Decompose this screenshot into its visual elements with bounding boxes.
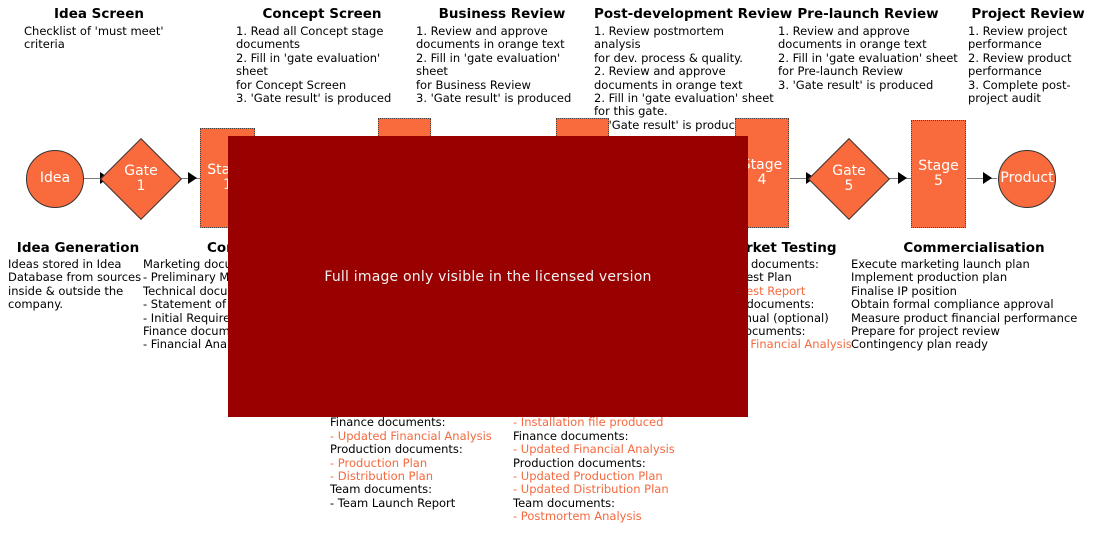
lower-line: Production documents: xyxy=(330,443,530,456)
lower-line: - Production Plan xyxy=(330,457,530,470)
flow-node-stage-5[interactable]: Stage 5 xyxy=(911,120,966,228)
stage-line: Obtain formal compliance approval xyxy=(851,298,1097,311)
gate-column-title: Idea Screen xyxy=(24,6,174,22)
gate-line: documents xyxy=(236,38,408,51)
gate-line: 3. Complete post- xyxy=(968,79,1088,92)
gate-line: for Concept Screen xyxy=(236,79,408,92)
flow-node-gate-5[interactable]: Gate 5 xyxy=(820,150,878,208)
flow-node-label: Product xyxy=(1000,171,1053,187)
flow-node-gate-1[interactable]: Gate 1 xyxy=(112,150,170,208)
gate-line: 2. Fill in 'gate evaluation' sheet xyxy=(416,52,588,79)
gate-line: for this gate. xyxy=(594,105,774,118)
gate-column-post-development-review: Post-development Review 1. Review postmo… xyxy=(594,6,774,132)
gate-line: documents in orange text xyxy=(778,38,958,51)
diagram-canvas: Idea Screen Checklist of 'must meet' cri… xyxy=(0,0,1097,537)
flow-node-idea[interactable]: Idea xyxy=(26,150,84,208)
flow-node-label: Gate 1 xyxy=(112,150,170,208)
licensed-version-overlay: Full image only visible in the licensed … xyxy=(228,136,748,417)
stage-line: Database from sources xyxy=(8,271,148,284)
gate-column-body: 1. Review and approve documents in orang… xyxy=(778,25,958,92)
lower-line: Finance documents: xyxy=(513,430,723,443)
flow-node-label: Stage 5 xyxy=(918,159,958,190)
stage-line: inside & outside the xyxy=(8,285,148,298)
gate-column-idea-screen: Idea Screen Checklist of 'must meet' cri… xyxy=(24,6,174,52)
lower-column-testing: - User Help files - Installation file pr… xyxy=(513,403,723,524)
lower-line: - Updated Financial Analysis xyxy=(513,443,723,456)
gate-line: documents in orange text xyxy=(416,38,588,51)
gate-line: performance xyxy=(968,65,1088,78)
gate-line: for Business Review xyxy=(416,79,588,92)
gate-column-body: 1. Read all Concept stage documents 2. F… xyxy=(236,25,408,105)
gate-line: 3. 'Gate result' is produced xyxy=(778,79,958,92)
lower-line: - Team Launch Report xyxy=(330,497,530,510)
lower-line: - Postmortem Analysis xyxy=(513,510,723,523)
gate-column-title: Business Review xyxy=(416,6,588,22)
stage-line: Ideas stored in Idea xyxy=(8,258,148,271)
flow-node-product[interactable]: Product xyxy=(998,150,1056,208)
gate-column-title: Project Review xyxy=(968,6,1088,22)
gate-column-body: Checklist of 'must meet' criteria xyxy=(24,25,174,52)
lower-line: Production documents: xyxy=(513,457,723,470)
gate-column-title: Pre-launch Review xyxy=(778,6,958,22)
gate-column-project-review: Project Review 1. Review project perform… xyxy=(968,6,1088,105)
lower-line: - Updated Financial Analysis xyxy=(330,430,530,443)
gate-line: 1. Review and approve xyxy=(416,25,588,38)
stage-column-idea-generation: Idea Generation Ideas stored in Idea Dat… xyxy=(8,240,148,312)
gate-line: 1. Review postmortem analysis xyxy=(594,25,774,52)
gate-line: 2. Fill in 'gate evaluation' sheet xyxy=(236,52,408,79)
stage-column-title: Commercialisation xyxy=(851,240,1097,256)
lower-line: Finance documents: xyxy=(330,416,530,429)
stage-column-body: Execute marketing launch plan Implement … xyxy=(851,258,1097,352)
lower-line: - Updated Distribution Plan xyxy=(513,483,723,496)
gate-line: 1. Review project xyxy=(968,25,1088,38)
gate-line: criteria xyxy=(24,38,174,51)
gate-line: for dev. process & quality. xyxy=(594,52,774,65)
stage-line: company. xyxy=(8,298,148,311)
lower-column-development: Management Plan) Finance documents: - Up… xyxy=(330,403,530,510)
gate-line: for Pre-launch Review xyxy=(778,65,958,78)
gate-line: project audit xyxy=(968,92,1088,105)
gate-column-pre-launch-review: Pre-launch Review 1. Review and approve … xyxy=(778,6,958,92)
stage-column-commercialisation: Commercialisation Execute marketing laun… xyxy=(851,240,1097,352)
lower-column-body: Management Plan) Finance documents: - Up… xyxy=(330,403,530,510)
lower-line: - Installation file produced xyxy=(513,416,723,429)
gate-column-body: 1. Review project performance 2. Review … xyxy=(968,25,1088,105)
stage-line: Measure product financial performance xyxy=(851,312,1097,325)
overlay-text: Full image only visible in the licensed … xyxy=(324,269,651,285)
stage-line: Execute marketing launch plan xyxy=(851,258,1097,271)
stage-column-body: Ideas stored in Idea Database from sourc… xyxy=(8,258,148,312)
gate-column-title: Post-development Review xyxy=(594,6,774,22)
gate-line: 2. Fill in 'gate evaluation' sheet xyxy=(778,52,958,65)
gate-line: 2. Review product xyxy=(968,52,1088,65)
gate-line: 3. 'Gate result' is produced xyxy=(236,92,408,105)
lower-line: Team documents: xyxy=(330,483,530,496)
gate-column-body: 1. Review and approve documents in orang… xyxy=(416,25,588,105)
gate-line: 2. Fill in 'gate evaluation' sheet xyxy=(594,92,774,105)
arrowhead-stage5 xyxy=(898,172,907,184)
lower-line: Team documents: xyxy=(513,497,723,510)
gate-line: documents in orange text xyxy=(594,79,774,92)
stage-line: Implement production plan xyxy=(851,271,1097,284)
flow-node-label: Gate 5 xyxy=(820,150,878,208)
gate-column-body: 1. Review postmortem analysis for dev. p… xyxy=(594,25,774,132)
stage-line: Contingency plan ready xyxy=(851,338,1097,351)
lower-column-body: - User Help files - Installation file pr… xyxy=(513,403,723,524)
gate-line: 2. Review and approve xyxy=(594,65,774,78)
connector-stage5-product xyxy=(967,178,997,179)
stage-line: Finalise IP position xyxy=(851,285,1097,298)
lower-line: - Updated Production Plan xyxy=(513,470,723,483)
gate-column-title: Concept Screen xyxy=(236,6,408,22)
lower-line: - Distribution Plan xyxy=(330,470,530,483)
gate-column-concept-screen: Concept Screen 1. Read all Concept stage… xyxy=(236,6,408,105)
arrowhead-product xyxy=(983,172,992,184)
gate-line: Checklist of 'must meet' xyxy=(24,25,174,38)
gate-line: performance xyxy=(968,38,1088,51)
stage-line: Prepare for project review xyxy=(851,325,1097,338)
gate-line: 1. Read all Concept stage xyxy=(236,25,408,38)
gate-line: 1. Review and approve xyxy=(778,25,958,38)
flow-node-label: Idea xyxy=(40,171,70,187)
gate-column-business-review: Business Review 1. Review and approve do… xyxy=(416,6,588,105)
gate-line: 3. 'Gate result' is produced xyxy=(416,92,588,105)
stage-column-title: Idea Generation xyxy=(8,240,148,256)
arrowhead-stage1 xyxy=(188,172,197,184)
